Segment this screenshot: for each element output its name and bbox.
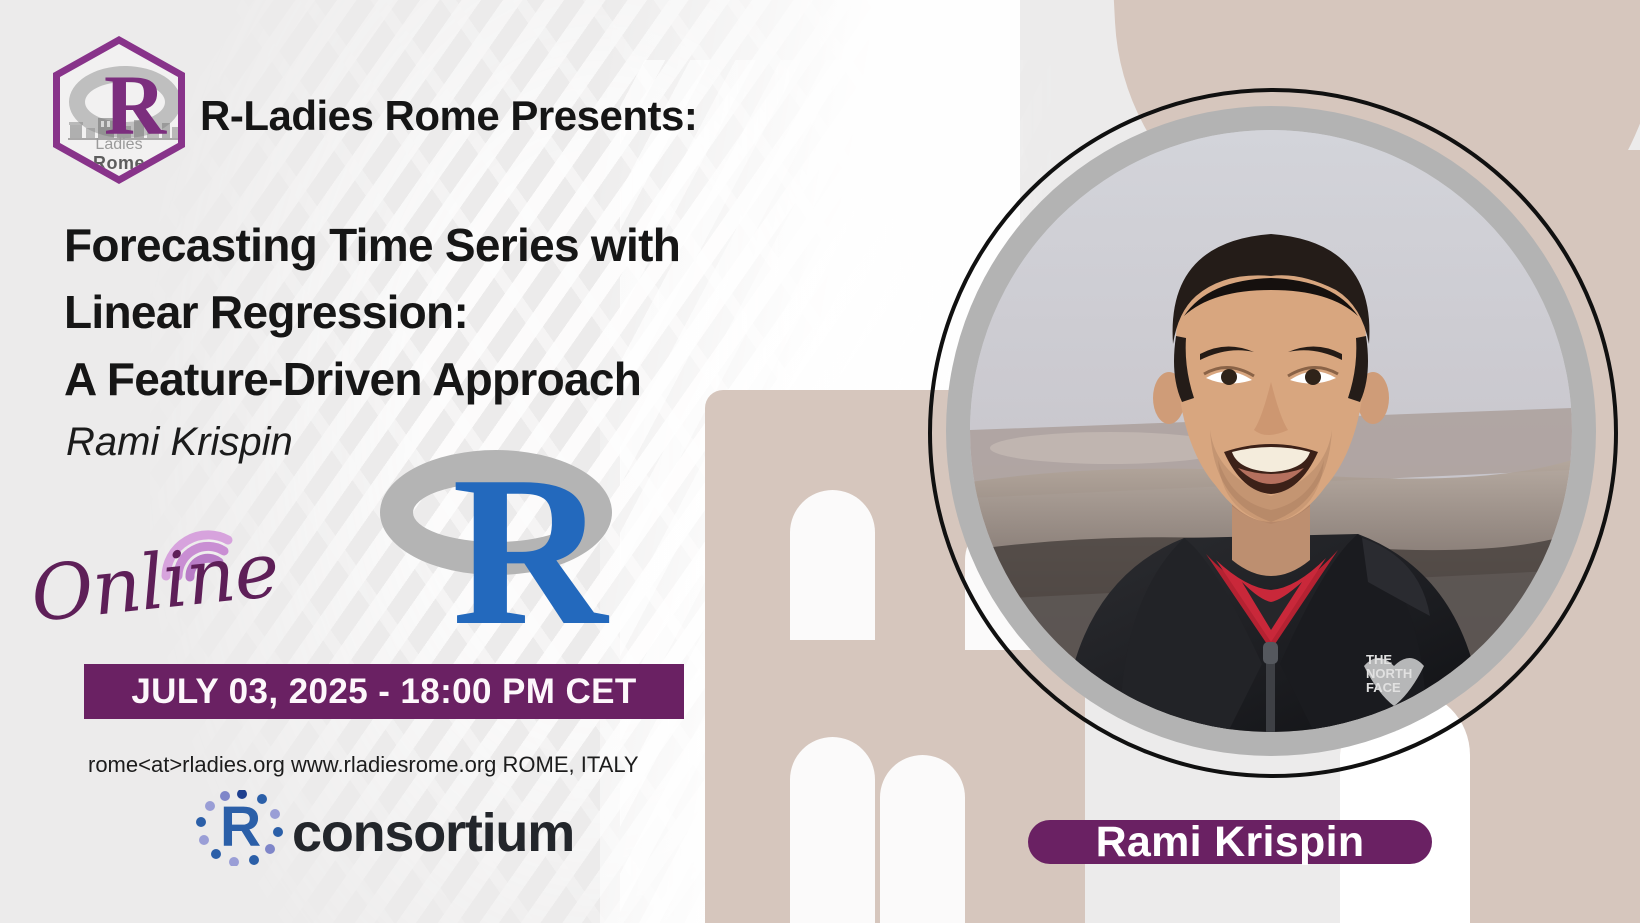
r-logo-letter: R	[452, 448, 601, 653]
talk-title-line-3: A Feature-Driven Approach	[64, 346, 764, 413]
photo-outer-outline	[928, 88, 1618, 778]
contact-info-line: rome<at>rladies.org www.rladiesrome.org …	[88, 752, 639, 778]
arch-cutout-3	[880, 755, 965, 923]
event-poster: R Ladies Rome R-Ladies Rome Presents: Fo…	[0, 0, 1640, 923]
talk-title: Forecasting Time Series with Linear Regr…	[64, 212, 764, 413]
arch-cutout-1	[790, 490, 875, 640]
r-consortium-logo: R consortium	[196, 790, 576, 866]
logo-label-ladies: Ladies	[60, 136, 178, 154]
date-time-text: JULY 03, 2025 - 18:00 PM CET	[131, 672, 636, 712]
speaker-name-subtitle: Rami Krispin	[66, 420, 293, 465]
online-label: Online	[27, 525, 283, 639]
consortium-wordmark: consortium	[292, 802, 574, 864]
r-ladies-rome-logo: R Ladies Rome	[53, 36, 185, 184]
speaker-name-badge-label: Rami Krispin	[1028, 812, 1432, 872]
talk-title-line-1: Forecasting Time Series with	[64, 212, 764, 279]
arch-cutout-2	[790, 737, 875, 923]
online-badge: Online	[36, 528, 306, 648]
date-time-banner: JULY 03, 2025 - 18:00 PM CET	[84, 664, 684, 719]
consortium-letter-r: R	[220, 799, 261, 856]
talk-title-line-2: Linear Regression:	[64, 279, 764, 346]
presents-header: R-Ladies Rome Presents:	[200, 92, 697, 140]
r-project-logo: R	[380, 440, 620, 650]
